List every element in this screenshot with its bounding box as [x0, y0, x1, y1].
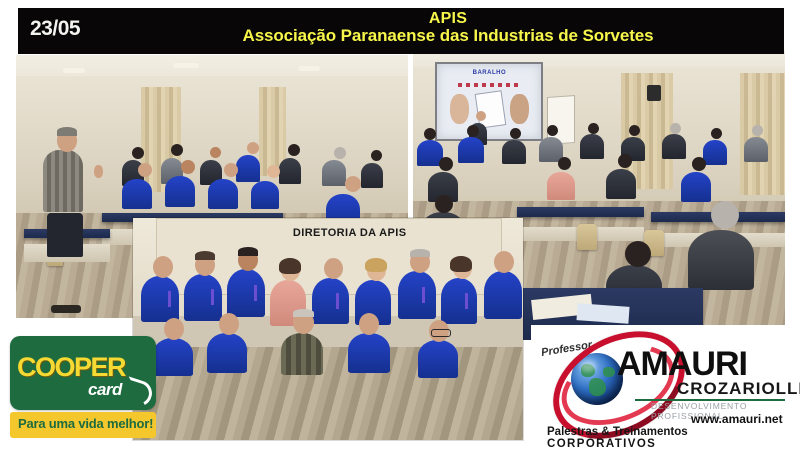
amauri-website[interactable]: www.amauri.net — [691, 412, 783, 426]
photo-diretoria-da-apis: DIRETORIA DA APIS — [133, 218, 523, 440]
title-bar: 23/05 APIS Associação Paranaense das Ind… — [18, 8, 784, 54]
cooper-wordmark: COOPER — [17, 352, 125, 383]
amauri-last-name: CROZARIOLLI — [677, 379, 800, 399]
slide-canvas: BARALHO — [0, 0, 800, 450]
event-title-full: Associação Paranaense das Industrias de … — [148, 27, 748, 45]
amauri-services: Palestras & Treinamentos CORPORATIVOS — [547, 426, 793, 450]
amauri-services-text: Palestras & Treinamentos — [547, 426, 688, 438]
event-title-acronym: APIS — [148, 10, 748, 27]
amauri-first-name: AMAURI — [617, 347, 747, 381]
cooper-card-subword: card — [88, 380, 122, 400]
event-title-block: APIS Associação Paranaense das Industria… — [148, 10, 748, 46]
projector-screen-text: BARALHO — [437, 70, 541, 76]
amauri-crozariolli-logo: Professor AMAURI CROZARIOLLI DESENVOLVIM… — [531, 325, 793, 443]
cooper-tagline: Para uma vida melhor! — [18, 416, 153, 431]
event-date: 23/05 — [30, 17, 80, 41]
photo-caption-diretoria: DIRETORIA DA APIS — [293, 227, 407, 239]
amauri-services-corporativos: CORPORATIVOS — [547, 438, 656, 450]
projector-screen: BARALHO — [435, 62, 543, 141]
cooper-card-logo: COOPER card Para uma vida melhor! — [8, 336, 158, 440]
